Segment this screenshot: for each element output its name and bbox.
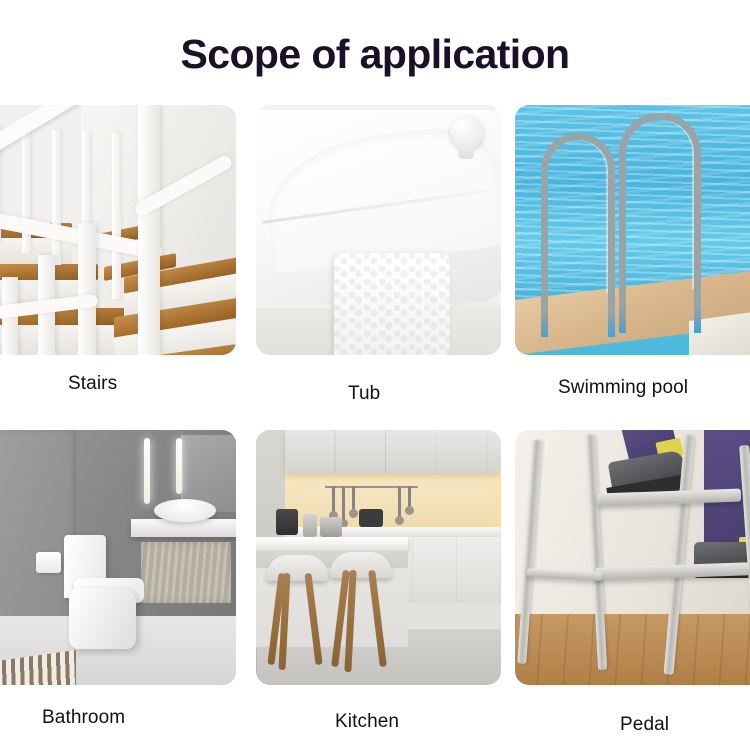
tile-caption-tub: Tub bbox=[348, 383, 380, 405]
swimming-pool-image bbox=[515, 105, 750, 355]
stairs-image bbox=[0, 105, 236, 355]
pedal-image bbox=[515, 430, 750, 685]
tile-stairs[interactable]: Stairs bbox=[0, 105, 236, 355]
grid-row-1: Stairs Tub bbox=[0, 105, 750, 430]
tile-bathroom[interactable]: Bathroom bbox=[0, 430, 236, 685]
bathroom-image bbox=[0, 430, 236, 685]
tile-caption-stairs: Stairs bbox=[68, 373, 117, 395]
application-scope-grid: Stairs Tub bbox=[0, 105, 750, 750]
kitchen-image bbox=[256, 430, 501, 685]
tile-pedal[interactable]: Pedal bbox=[515, 430, 750, 685]
page-title: Scope of application bbox=[0, 30, 750, 79]
tub-image bbox=[256, 105, 501, 355]
tile-kitchen[interactable]: Kitchen bbox=[256, 430, 501, 685]
tile-caption-swimming-pool: Swimming pool bbox=[558, 377, 688, 399]
tile-caption-pedal: Pedal bbox=[620, 714, 669, 736]
scope-of-application-page: Scope of application bbox=[0, 0, 750, 750]
tile-swimming-pool[interactable]: Swimming pool bbox=[515, 105, 750, 355]
tile-caption-bathroom: Bathroom bbox=[42, 707, 125, 729]
tile-caption-kitchen: Kitchen bbox=[335, 711, 399, 733]
tile-tub[interactable]: Tub bbox=[256, 105, 501, 355]
grid-row-2: Bathroom bbox=[0, 430, 750, 750]
